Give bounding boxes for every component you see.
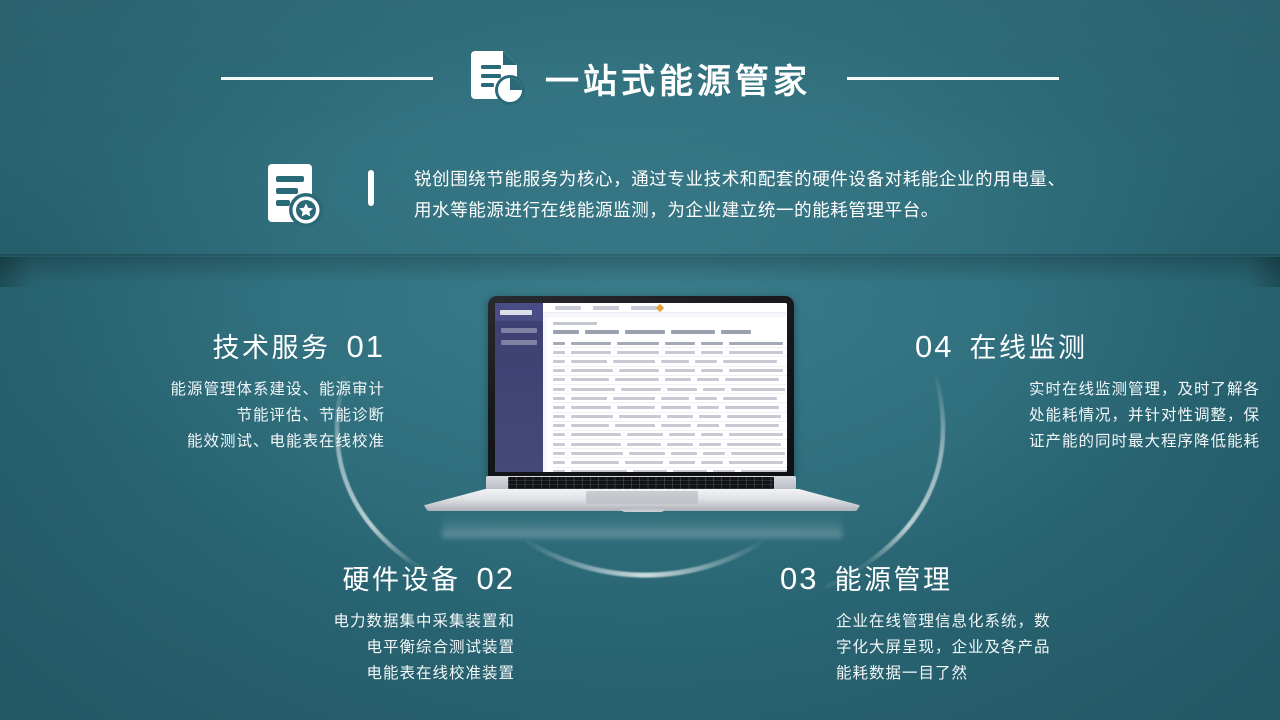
dashboard-nav-item [501, 328, 537, 333]
table-row [553, 357, 787, 366]
section-block-04: 04 在线监测 实时在线监测管理，及时了解各 处能耗情况，并针对性调整，保 证产… [915, 326, 1260, 455]
slide-header: 一站式能源管家 [0, 42, 1280, 114]
section-heading-04: 04 在线监测 [915, 326, 1260, 365]
dashboard-tab [555, 306, 581, 310]
table-row [553, 440, 787, 449]
table-row [553, 367, 787, 376]
section-heading-01: 技术服务 01 [20, 326, 385, 365]
table-row [553, 449, 787, 458]
dashboard-sidebar [495, 303, 543, 472]
header-divider-left [221, 77, 433, 80]
section-number-03: 03 [780, 561, 818, 597]
laptop-reflection [442, 510, 842, 538]
section-body-02: 电力数据集中采集装置和 电平衡综合测试装置 电能表在线校准装置 [190, 609, 515, 687]
section-title-01: 技术服务 [213, 326, 331, 365]
dashboard-topbar [543, 303, 787, 313]
dashboard-screenshot[interactable] [495, 303, 787, 472]
laptop-mockup [424, 296, 860, 536]
table-header-row [553, 339, 787, 348]
section-title-03: 能源管理 [834, 558, 952, 597]
dashboard-tab [631, 306, 657, 310]
table-row [553, 385, 787, 394]
table-row [553, 413, 787, 422]
table-row [553, 394, 787, 403]
section-heading-02: 硬件设备 02 [190, 558, 515, 597]
page-title: 一站式能源管家 [545, 54, 811, 103]
table-row [553, 422, 787, 431]
document-star-icon [262, 160, 330, 232]
dashboard-nav-item [501, 340, 537, 345]
arc-bottom [528, 542, 760, 575]
table-row [553, 403, 787, 412]
laptop-base [424, 476, 860, 512]
section-title-02: 硬件设备 [343, 558, 461, 597]
table-row [553, 468, 787, 472]
section-heading-03: 03 能源管理 [780, 558, 1120, 597]
section-block-01: 技术服务 01 能源管理体系建设、能源审计 节能评估、节能诊断 能效测试、电能表… [20, 326, 385, 455]
section-body-04: 实时在线监测管理，及时了解各 处能耗情况，并针对性调整，保 证产能的同时最大程序… [915, 377, 1260, 455]
intro-paragraph: 锐创围绕节能服务为核心，通过专业技术和配套的硬件设备对耗能企业的用电量、 用水等… [414, 160, 1066, 226]
laptop-lid [488, 296, 794, 482]
section-block-02: 硬件设备 02 电力数据集中采集装置和 电平衡综合测试装置 电能表在线校准装置 [190, 558, 515, 687]
dashboard-filters [553, 330, 787, 334]
dashboard-tab [593, 306, 619, 310]
dashboard-body [543, 313, 787, 472]
intro-separator-bar [368, 170, 374, 206]
table-row [553, 376, 787, 385]
laptop-keyboard [508, 477, 774, 489]
intro-block: 锐创围绕节能服务为核心，通过专业技术和配套的硬件设备对耗能企业的用电量、 用水等… [262, 160, 1066, 232]
slide-root: 一站式能源管家 锐创围绕节能服务为核心，通过专业技术和配套的硬件设备对耗能企业的… [0, 0, 1280, 720]
dashboard-logo [495, 303, 543, 321]
header-divider-right [847, 77, 1059, 80]
section-number-04: 04 [915, 329, 953, 365]
document-chart-icon [469, 47, 527, 109]
breadcrumb [553, 322, 597, 325]
laptop-trackpad [586, 491, 698, 504]
section-body-03: 企业在线管理信息化系统，数 字化大屏呈现，企业及各产品 能耗数据一目了然 [780, 609, 1120, 687]
dashboard-main [543, 303, 787, 472]
dashboard-table [547, 317, 787, 472]
section-body-01: 能源管理体系建设、能源审计 节能评估、节能诊断 能效测试、电能表在线校准 [20, 377, 385, 455]
table-row [553, 431, 787, 440]
table-row [553, 348, 787, 357]
table-row [553, 458, 787, 467]
section-number-01: 01 [347, 329, 385, 365]
section-block-03: 03 能源管理 企业在线管理信息化系统，数 字化大屏呈现，企业及各产品 能耗数据… [780, 558, 1120, 687]
section-number-02: 02 [477, 561, 515, 597]
edit-icon [656, 303, 664, 311]
section-title-04: 在线监测 [969, 326, 1087, 365]
